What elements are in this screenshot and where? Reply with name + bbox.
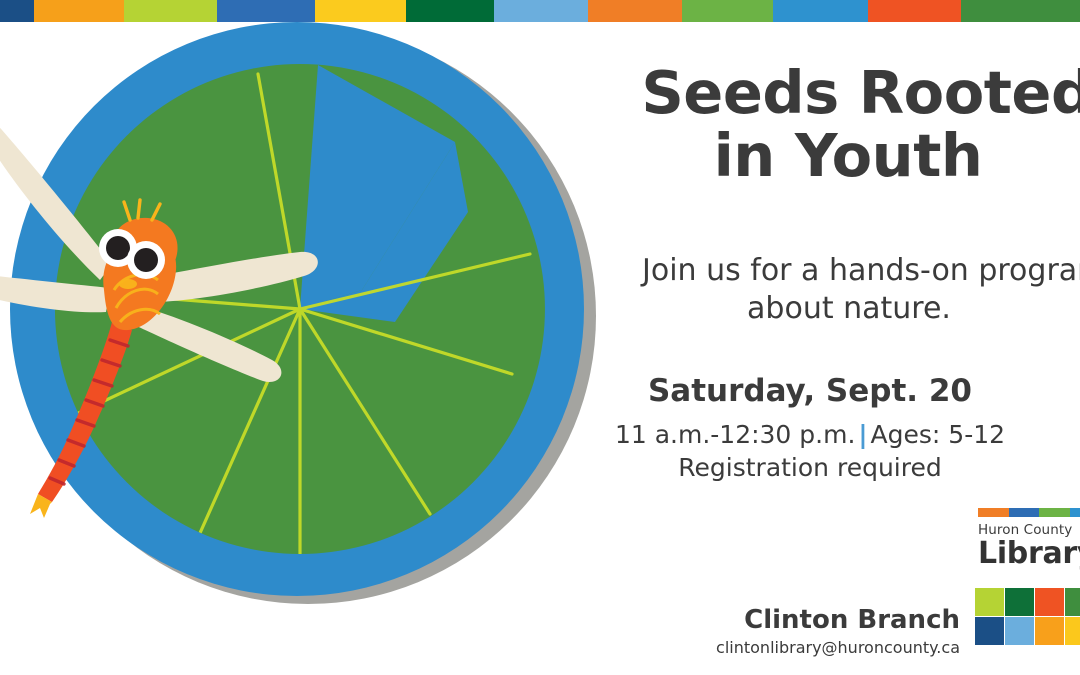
poster-canvas: Seeds Rooted in Youth Join us for a hand… [0, 0, 1080, 675]
top-bar-band-2 [34, 0, 124, 22]
logo-color-bar [978, 508, 1080, 517]
subheading-line-1: Join us for a hands-on program [642, 252, 1080, 290]
event-date: Saturday, Sept. 20 [600, 373, 1020, 409]
top-bar-band-8 [588, 0, 682, 22]
branch-info: Clinton Branch clintonlibrary@huroncount… [660, 605, 960, 657]
dragonfly-pupil-right [134, 248, 158, 272]
logo-color-block-grid [975, 588, 1080, 644]
logo-org-bottom: Library [978, 539, 1080, 569]
dragonfly-pupil-left [106, 236, 130, 260]
top-bar-band-9 [682, 0, 774, 22]
subheading: Join us for a hands-on program about nat… [600, 252, 1080, 329]
logo-block-8 [1065, 617, 1080, 645]
top-bar-band-4 [217, 0, 315, 22]
headline-line-2: in Youth [596, 125, 1080, 188]
subheading-line-2: about nature. [598, 290, 1080, 328]
top-bar-band-10 [773, 0, 867, 22]
top-bar-band-5 [315, 0, 407, 22]
logo-block-5 [975, 617, 1004, 645]
logo-block-6 [1005, 617, 1034, 645]
logo-block-4 [1065, 588, 1080, 616]
logo-block-1 [975, 588, 1004, 616]
logo-bar-segment-2 [1009, 508, 1040, 517]
headline-line-1: Seeds Rooted [634, 62, 1080, 125]
top-bar-band-11 [868, 0, 961, 22]
logo-block-3 [1035, 588, 1064, 616]
page-title: Seeds Rooted in Youth [600, 62, 1080, 187]
top-bar-band-6 [406, 0, 494, 22]
lilypad-dragonfly-artwork [0, 22, 620, 675]
event-ages: Ages: 5-12 [871, 420, 1006, 449]
registration-note: Registration required [600, 453, 1020, 482]
branch-email[interactable]: clintonlibrary@huroncounty.ca [660, 638, 960, 657]
top-bar-band-7 [494, 0, 587, 22]
top-bar-band-3 [124, 0, 217, 22]
logo-bar-segment-1 [978, 508, 1009, 517]
branch-name: Clinton Branch [660, 605, 960, 635]
event-time: 11 a.m.-12:30 p.m. [615, 420, 855, 449]
logo-block-2 [1005, 588, 1034, 616]
logo-bar-segment-3 [1039, 508, 1070, 517]
logo-block-7 [1035, 617, 1064, 645]
top-color-bar [0, 0, 1080, 22]
time-ages-separator: | [855, 420, 870, 449]
huron-county-library-logo: Huron County Library [978, 508, 1080, 569]
logo-bar-segment-4 [1070, 508, 1080, 517]
event-time-ages: 11 a.m.-12:30 p.m.|Ages: 5-12 [600, 420, 1020, 449]
dragonfly-mouth [119, 279, 137, 289]
top-bar-band-12 [961, 0, 1080, 22]
text-column: Seeds Rooted in Youth Join us for a hand… [600, 0, 1080, 675]
top-bar-band-1 [0, 0, 34, 22]
